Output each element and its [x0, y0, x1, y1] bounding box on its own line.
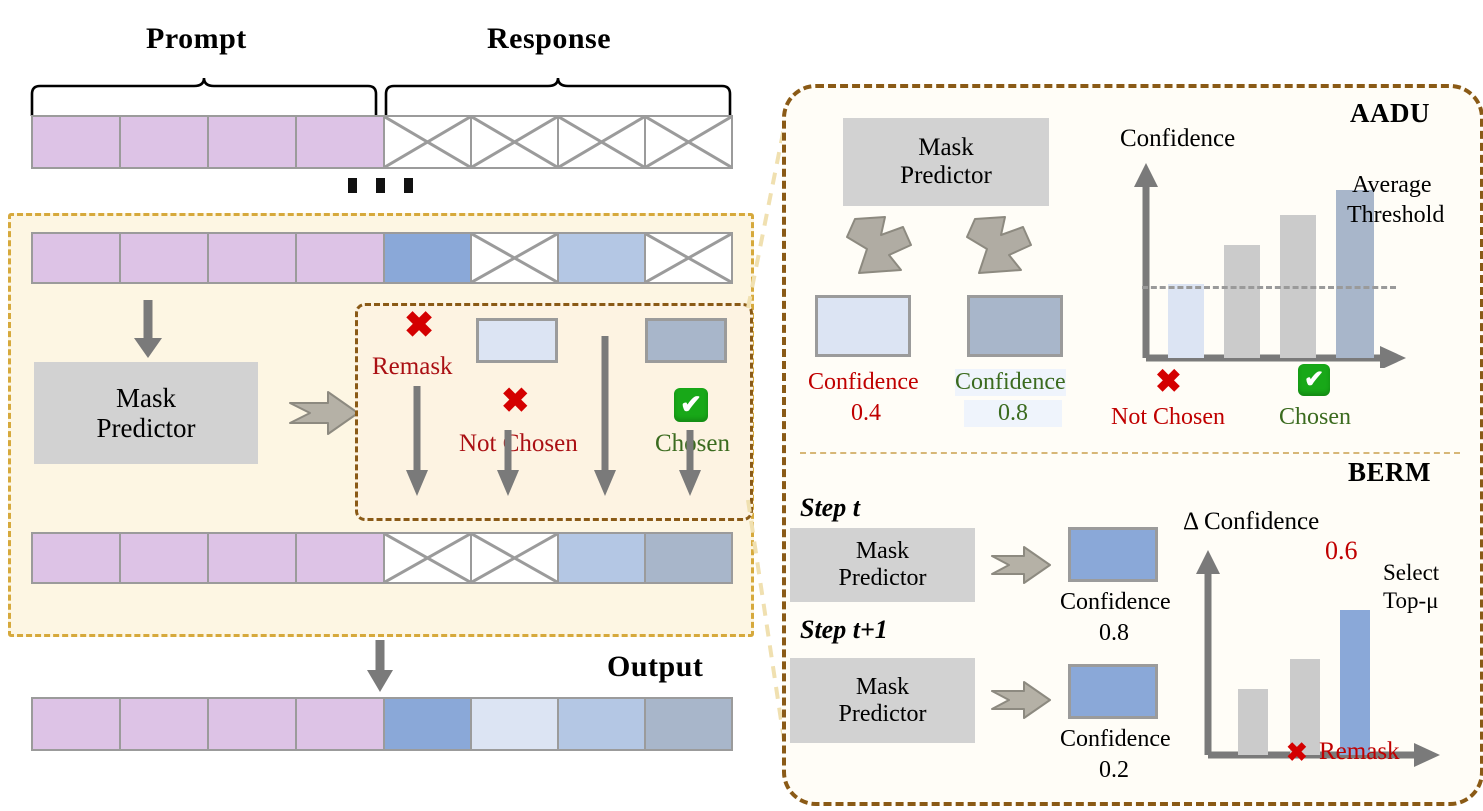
aadu-not-chosen-label: Not Chosen	[1111, 404, 1225, 431]
berm-bar-3	[1340, 610, 1370, 755]
mask-predictor-line2: Predictor	[839, 565, 927, 592]
berm-peak-value-label: 0.6	[1325, 536, 1358, 566]
aadu-threshold-line	[1142, 286, 1396, 289]
aadu-threshold-label-line1: Average	[1352, 172, 1432, 199]
down-arrow-to-output	[364, 640, 396, 694]
sequence-ellipsis	[348, 178, 413, 198]
mask-predictor-line2: Predictor	[97, 413, 196, 443]
token-cell-masked	[383, 115, 472, 169]
token-cell-blue-light	[557, 532, 646, 584]
berm-step-t1-conf-label: Confidence	[1060, 726, 1171, 753]
token-cell	[295, 697, 385, 751]
aadu-token-high	[967, 295, 1063, 357]
token-cell	[119, 532, 209, 584]
token-cell	[295, 232, 385, 284]
berm-arrow-step-t	[990, 545, 1052, 585]
token-cell-blue-pale	[470, 697, 559, 751]
down-arrow-to-predictor	[132, 300, 164, 360]
aadu-threshold-label-line2: Threshold	[1347, 202, 1444, 229]
aadu-high-conf-label: Confidence	[955, 369, 1066, 396]
token-cell	[295, 532, 385, 584]
token-cell	[207, 532, 297, 584]
berm-token-step-t1	[1068, 664, 1158, 719]
aadu-high-conf-value: 0.8	[964, 400, 1062, 427]
decision-down-arrows	[360, 318, 745, 508]
berm-select-label-line2: Top-μ	[1383, 588, 1438, 614]
mask-predictor-box-step-t: Mask Predictor	[790, 528, 975, 602]
mask-predictor-box-left: Mask Predictor	[34, 362, 258, 464]
panel-divider	[800, 452, 1460, 454]
mask-predictor-line1: Mask	[856, 674, 909, 701]
token-cell	[207, 232, 297, 284]
aadu-chosen-check-icon: ✔	[1298, 364, 1330, 396]
berm-step-t-label: Step t	[800, 493, 860, 523]
token-row-step-input	[31, 232, 733, 284]
aadu-low-conf-label: Confidence	[808, 369, 919, 396]
aadu-not-chosen-x-icon: ✖	[1155, 365, 1182, 397]
aadu-chosen-label: Chosen	[1279, 404, 1351, 431]
aadu-bar-2	[1224, 245, 1260, 358]
aadu-low-conf-value: 0.4	[851, 400, 881, 427]
berm-step-t1-label: Step t+1	[800, 615, 888, 645]
berm-step-t1-conf-value: 0.2	[1060, 757, 1168, 784]
token-cell	[207, 697, 297, 751]
token-cell-masked	[383, 532, 472, 584]
aadu-diagonal-arrows	[845, 215, 1060, 297]
aadu-bar-1	[1168, 284, 1204, 358]
berm-token-step-t	[1068, 527, 1158, 582]
token-row-top	[31, 115, 733, 169]
berm-arrow-step-t1	[990, 680, 1052, 720]
token-row-step-after	[31, 532, 733, 584]
berm-bar-1	[1238, 689, 1268, 755]
token-cell	[119, 232, 209, 284]
berm-remask-x-icon: ✖	[1286, 740, 1308, 766]
mask-predictor-line2: Predictor	[839, 701, 927, 728]
figure-root: Prompt Response	[0, 0, 1483, 811]
berm-step-t-conf-label: Confidence	[1060, 589, 1171, 616]
response-heading: Response	[487, 22, 611, 56]
token-cell-masked	[557, 115, 646, 169]
token-row-output	[31, 697, 733, 751]
token-cell	[31, 697, 121, 751]
mask-predictor-line2: Predictor	[900, 162, 992, 190]
token-cell	[31, 232, 121, 284]
aadu-token-low	[815, 295, 911, 357]
mask-predictor-line1: Mask	[856, 538, 909, 565]
token-cell	[207, 115, 297, 169]
right-arrow-to-decisions	[288, 390, 360, 436]
token-cell-blue-light	[557, 232, 646, 284]
berm-select-label-line1: Select	[1383, 560, 1439, 586]
aadu-axis-label: Confidence	[1120, 125, 1235, 153]
token-cell-masked	[470, 232, 559, 284]
berm-step-t-conf-value: 0.8	[1060, 620, 1168, 647]
output-heading: Output	[607, 650, 703, 684]
token-cell	[31, 115, 121, 169]
top-braces	[28, 68, 740, 120]
token-cell	[295, 115, 385, 169]
prompt-heading: Prompt	[146, 22, 247, 56]
token-cell-masked	[470, 115, 559, 169]
token-cell	[31, 532, 121, 584]
aadu-chart: Confidence	[1120, 125, 1450, 370]
token-cell-blue-dark	[383, 697, 472, 751]
token-cell	[119, 115, 209, 169]
berm-remask-label: Remask	[1319, 738, 1400, 766]
mask-predictor-line1: Mask	[918, 134, 974, 162]
token-cell-masked	[470, 532, 559, 584]
mask-predictor-line1: Mask	[116, 383, 176, 413]
token-cell-blue-light	[557, 697, 646, 751]
token-cell-blue-dark	[383, 232, 472, 284]
berm-title: BERM	[1348, 457, 1431, 488]
mask-predictor-box-step-t1: Mask Predictor	[790, 658, 975, 743]
mask-predictor-box-aadu: Mask Predictor	[843, 118, 1049, 206]
berm-axis-label: Δ Confidence	[1183, 508, 1319, 536]
token-cell	[119, 697, 209, 751]
